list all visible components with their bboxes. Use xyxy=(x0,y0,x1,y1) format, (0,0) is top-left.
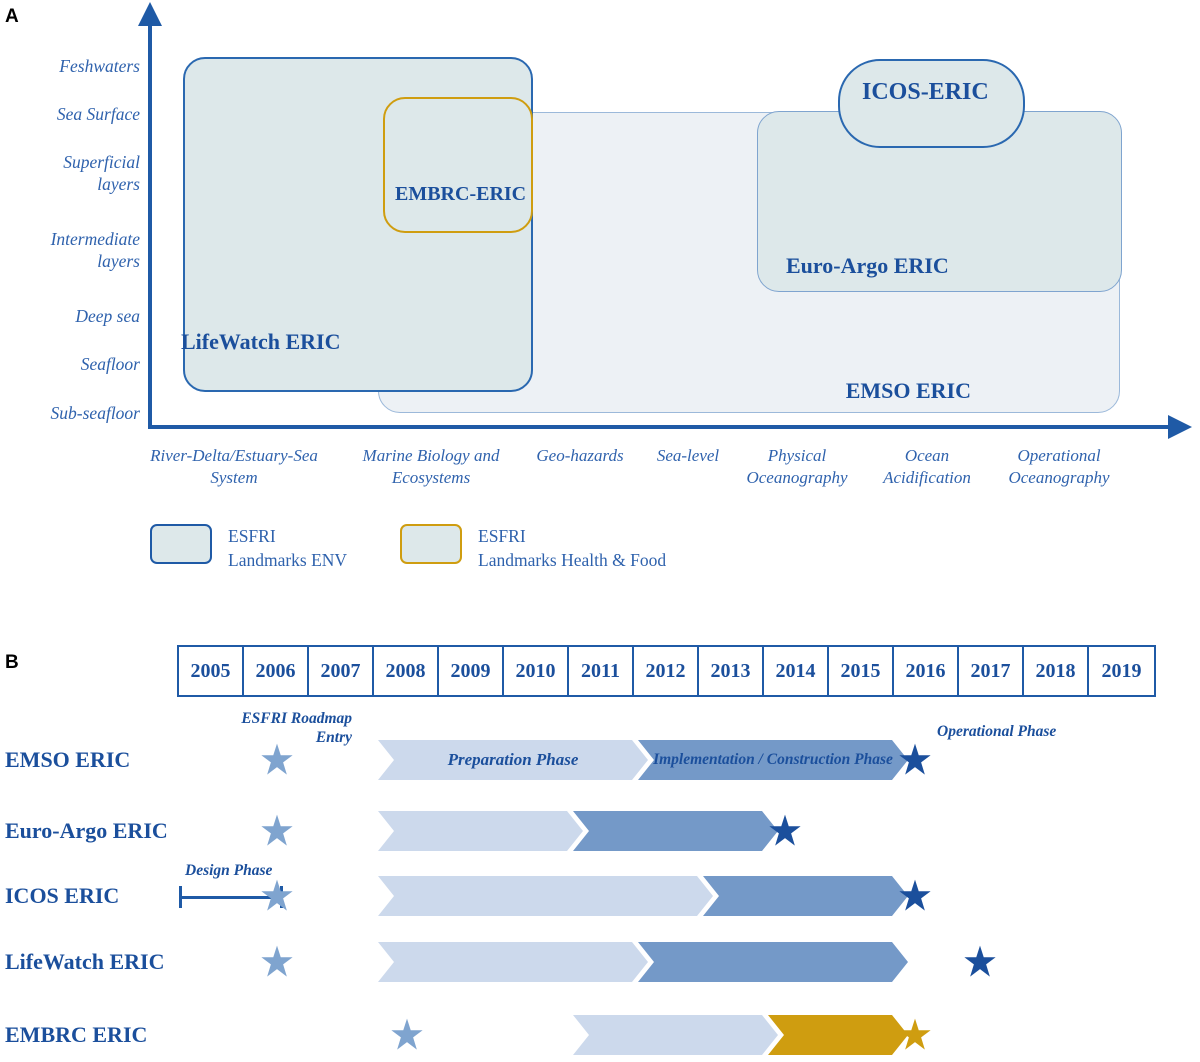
esfri-roadmap-entry-star[interactable] xyxy=(260,945,294,984)
implementation-phase-bar-emso[interactable]: Implementation / Construction Phase xyxy=(638,740,908,780)
preparation-phase-bar-emso[interactable]: Preparation Phase xyxy=(378,740,648,780)
y-axis-label-seafloor: Seafloor xyxy=(81,354,140,376)
timeline-rows: EMSO ERICPreparation PhaseImplementation… xyxy=(0,620,1200,1062)
domain-box-euro-argo-label: Euro-Argo ERIC xyxy=(786,253,949,279)
esfri-roadmap-entry-star[interactable] xyxy=(260,743,294,782)
domain-box-embrc-label: EMBRC-ERIC xyxy=(395,183,526,206)
preparation-phase-bar-icos[interactable] xyxy=(378,876,713,916)
operational-phase-star[interactable] xyxy=(768,814,802,853)
preparation-phase-label: Preparation Phase xyxy=(378,740,648,780)
operational-phase-star[interactable] xyxy=(898,743,932,782)
preparation-phase-bar-embrc[interactable] xyxy=(573,1015,778,1055)
preparation-phase-bar-lifewatch[interactable] xyxy=(378,942,648,982)
x-axis-arrowhead xyxy=(1168,415,1192,439)
x-axis-label-physical-oceanography: Physical Oceanography xyxy=(722,445,872,489)
x-axis-label-marine-biology: Marine Biology and Ecosystems xyxy=(341,445,521,489)
y-axis-arrowhead xyxy=(138,2,162,26)
x-axis-label-ocean-acidification: Ocean Acidification xyxy=(862,445,992,489)
implementation-phase-bar-lifewatch[interactable] xyxy=(638,942,908,982)
esfri-roadmap-entry-star[interactable] xyxy=(260,879,294,918)
domain-box-embrc[interactable]: EMBRC-ERIC xyxy=(383,97,533,233)
implementation-phase-bar-icos[interactable] xyxy=(703,876,908,916)
domain-box-icos-label: ICOS-ERIC xyxy=(862,79,989,106)
timeline-row-label-lifewatch: LifeWatch ERIC xyxy=(5,949,165,975)
operational-phase-star[interactable] xyxy=(963,945,997,984)
domain-box-lifewatch-label: LifeWatch ERIC xyxy=(181,329,341,355)
operational-phase-annotation: Operational Phase xyxy=(937,723,1056,742)
legend-item-esfri-env[interactable]: ESFRI Landmarks ENV xyxy=(150,524,347,572)
x-axis-label-geo-hazards: Geo-hazards xyxy=(515,445,645,467)
preparation-phase-bar-euro-argo[interactable] xyxy=(378,811,583,851)
y-axis-label-freshwaters: Feshwaters xyxy=(59,56,140,78)
x-axis-line xyxy=(148,425,1172,429)
domain-box-icos[interactable]: ICOS-ERIC xyxy=(838,59,1025,148)
legend-swatch-health-food xyxy=(400,524,462,564)
x-axis-label-river-delta: River-Delta/Estuary-Sea System xyxy=(128,445,340,489)
legend-label-env: ESFRI Landmarks ENV xyxy=(228,524,347,572)
y-axis-label-sea-surface: Sea Surface xyxy=(57,104,140,126)
legend-item-esfri-health-food[interactable]: ESFRI Landmarks Health & Food xyxy=(400,524,666,572)
x-axis-label-operational-oceanography: Operational Oceanography xyxy=(984,445,1134,489)
y-axis-line xyxy=(148,22,152,428)
timeline-row-label-icos: ICOS ERIC xyxy=(5,883,119,909)
implementation-phase-bar-euro-argo[interactable] xyxy=(573,811,778,851)
y-axis-label-intermediate-layers: Intermediate layers xyxy=(51,229,140,273)
panel-a-letter: A xyxy=(5,6,19,28)
legend-swatch-env xyxy=(150,524,212,564)
design-phase-tick xyxy=(179,886,182,908)
panel-a-domain-coverage-diagram: A Feshwaters Sea Surface Superficial lay… xyxy=(0,0,1200,600)
timeline-row-label-emso: EMSO ERIC xyxy=(5,747,130,773)
design-phase-annotation: Design Phase xyxy=(185,862,272,881)
implementation-phase-label: Implementation / Construction Phase xyxy=(638,740,908,780)
domain-box-emso-label: EMSO ERIC xyxy=(846,378,971,404)
esfri-roadmap-entry-annotation: ESFRI Roadmap Entry xyxy=(222,710,352,747)
timeline-row-label-euro-argo: Euro-Argo ERIC xyxy=(5,818,168,844)
esfri-roadmap-entry-star[interactable] xyxy=(260,814,294,853)
legend-label-health-food: ESFRI Landmarks Health & Food xyxy=(478,524,666,572)
panel-a-legend: ESFRI Landmarks ENV ESFRI Landmarks Heal… xyxy=(150,524,850,584)
implementation-phase-bar-embrc[interactable] xyxy=(768,1015,908,1055)
panel-b-timeline: B 20052006200720082009201020112012201320… xyxy=(0,620,1200,1062)
timeline-row-label-embrc: EMBRC ERIC xyxy=(5,1022,147,1048)
esfri-roadmap-entry-star[interactable] xyxy=(390,1018,424,1057)
operational-phase-star[interactable] xyxy=(898,879,932,918)
operational-phase-star[interactable] xyxy=(898,1018,932,1057)
y-axis-label-superficial-layers: Superficial layers xyxy=(63,152,140,196)
y-axis-label-deep-sea: Deep sea xyxy=(75,306,140,328)
y-axis-label-sub-seafloor: Sub-seafloor xyxy=(51,403,140,425)
